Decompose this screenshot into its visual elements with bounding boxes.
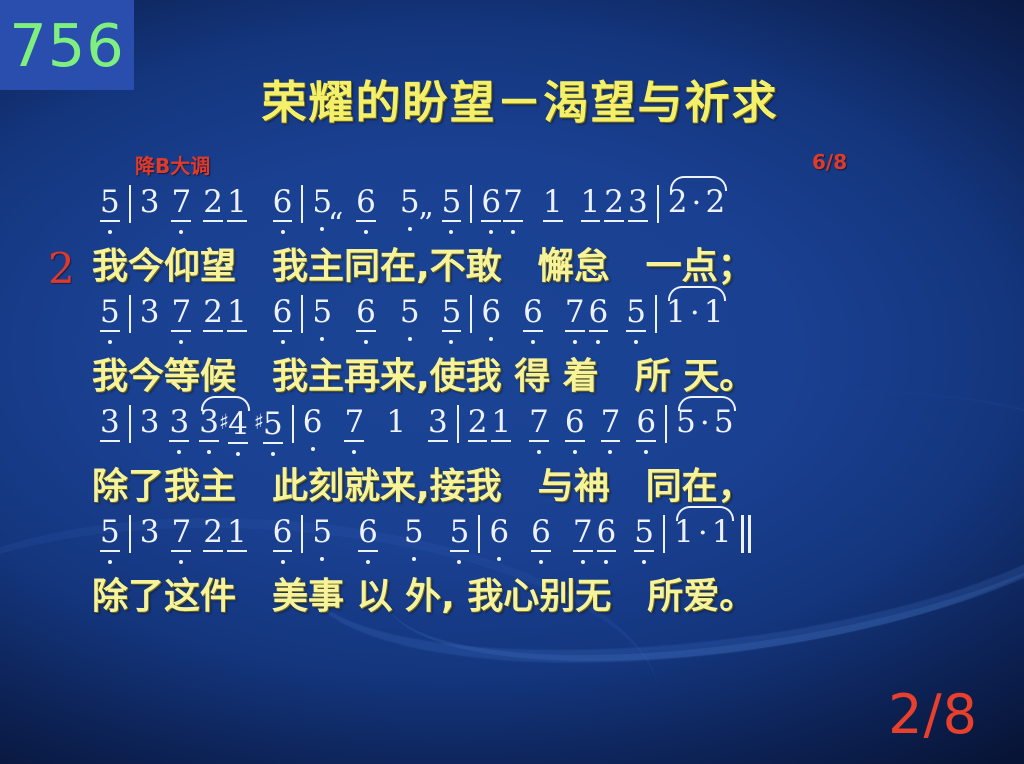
note-number: 1: [581, 185, 601, 222]
note-number: 5: [626, 295, 646, 332]
note-6: 6: [481, 185, 501, 222]
note-number: 1: [386, 405, 406, 439]
note-number: 1: [227, 295, 247, 332]
duration-dot: ·: [696, 405, 714, 441]
note-number: 5: [714, 405, 734, 439]
note-number: 2: [668, 185, 688, 219]
note-1: 1: [674, 515, 694, 549]
note-7: 7: [601, 405, 621, 442]
note-number: 5: [100, 295, 120, 332]
notation-row: 53721656556711232·2“”: [0, 185, 1024, 243]
notation-row: 5372165655667651·1: [0, 295, 1024, 353]
barline: [478, 515, 480, 553]
note-number: 1: [712, 515, 732, 549]
note-2: 2: [705, 185, 725, 219]
verse-number: 2: [48, 245, 75, 293]
lyric-row: 除了我主 此刻就来,接我 与袡 同在，: [0, 463, 1024, 515]
barline: [655, 295, 657, 333]
barline: [665, 405, 667, 443]
note-number: 6: [531, 515, 551, 552]
note-number: 6: [589, 295, 609, 332]
note-number: 3: [140, 185, 160, 219]
note-number: 5: [634, 515, 654, 552]
open-quote-mark: “: [328, 207, 343, 242]
note-number: 7: [344, 405, 364, 442]
note-6: 6: [565, 405, 585, 442]
note-2: 2: [203, 515, 223, 552]
note-number: 7: [171, 185, 191, 222]
note-number: 1: [704, 295, 724, 329]
note-number: 7: [171, 515, 191, 552]
note-number: 5: [100, 185, 120, 222]
note-7: 7: [344, 405, 364, 442]
note-number: 7: [565, 295, 585, 332]
note-number: 3: [199, 405, 219, 442]
note-3: 3: [169, 405, 189, 442]
note-number: 6: [489, 515, 509, 549]
lyric-row: 除了这件 美事 以 外, 我心别无 所爱。: [0, 573, 1024, 625]
duration-dot: ·: [687, 185, 705, 221]
note-2: 2: [668, 185, 688, 219]
music-system: 53721656556711232·2“”2我今仰望 我主同在,不敢 懈怠 一点…: [0, 185, 1024, 295]
note-number: 6: [481, 295, 501, 329]
barline: [129, 185, 131, 223]
note-number: 5: [100, 515, 120, 552]
lyric-text: 我今等候 我主再来,使我 得 着 所 天。: [92, 356, 755, 397]
note-number: 5: [404, 515, 424, 549]
note-1: 1: [543, 185, 563, 222]
lyric-text: 除了这件 美事 以 外, 我心别无 所爱。: [92, 576, 755, 617]
lyric-text: 除了我主 此刻就来,接我 与袡 同在，: [92, 466, 754, 507]
note-number: 3: [100, 405, 120, 442]
note-number: 5: [676, 405, 696, 439]
note-number: 7: [529, 405, 549, 442]
note-6: 6: [597, 515, 617, 552]
note-number: 3: [140, 295, 160, 329]
note-5: 5: [626, 295, 646, 332]
note-number: 5: [442, 185, 462, 222]
note-5: 5: [100, 295, 120, 332]
note-5: 5: [676, 405, 696, 439]
note-number: 5: [400, 185, 420, 219]
note-number: 5: [400, 295, 420, 329]
note-number: 6: [565, 405, 585, 442]
note-number: 1: [674, 515, 694, 549]
notation-row: 3333♯4♯567132176765·5: [0, 405, 1024, 463]
note-3: 3: [628, 185, 648, 222]
note-number: 2: [203, 295, 223, 332]
note-number: 6: [303, 405, 323, 439]
note-number: 7: [573, 515, 593, 552]
slide-canvas: 756 荣耀的盼望－渴望与祈求 降B大调 6/8 537216565567112…: [0, 0, 1024, 764]
note-5: 5: [312, 515, 332, 549]
note-3: 3: [140, 515, 160, 549]
note-number: 3: [140, 405, 160, 439]
note-6: 6: [358, 515, 378, 552]
note-number: 1: [491, 405, 511, 442]
note-6: 6: [356, 185, 376, 222]
song-number-badge: 756: [0, 0, 134, 90]
note-number: 7: [601, 405, 621, 442]
note-number: 3: [628, 185, 648, 222]
note-3: 3: [140, 405, 160, 439]
note-number: 3: [140, 515, 160, 549]
note-number: 6: [273, 295, 293, 332]
barline: [292, 405, 294, 443]
note-number: 6: [356, 295, 376, 332]
note-number: 7: [171, 295, 191, 332]
note-number: 3: [169, 405, 189, 442]
note-number: 5: [442, 295, 462, 332]
note-1: 1: [704, 295, 724, 329]
note-6: 6: [489, 515, 509, 549]
note-1: 1: [386, 405, 406, 439]
duration-dot: ·: [686, 295, 704, 331]
note-6: 6: [303, 405, 323, 439]
note-1: 1: [666, 295, 686, 329]
note-number: 6: [523, 295, 543, 332]
note-number: 5: [312, 515, 332, 549]
barline: [470, 185, 472, 223]
note-number: 5: [263, 407, 283, 444]
note-number: 2: [203, 185, 223, 222]
note-2: 2: [468, 405, 488, 442]
note-3: 3: [428, 405, 448, 442]
note-6: 6: [523, 295, 543, 332]
note-number: 2: [203, 515, 223, 552]
note-7: 7: [529, 405, 549, 442]
note-number: 6: [481, 185, 501, 222]
barline: [301, 515, 303, 553]
note-5: 5: [442, 295, 462, 332]
note-1: 1: [227, 295, 247, 332]
note-5: 5: [442, 185, 462, 222]
close-quote-mark: ”: [418, 207, 433, 242]
barline: [129, 405, 131, 443]
note-number: 6: [636, 405, 656, 442]
music-system: 5372165655667651·1除了这件 美事 以 外, 我心别无 所爱。: [0, 515, 1024, 625]
note-2: 2: [203, 185, 223, 222]
note-number: 5: [450, 515, 470, 552]
note-7: 7: [573, 515, 593, 552]
note-2: 2: [203, 295, 223, 332]
song-number: 756: [9, 16, 125, 75]
note-number: 1: [227, 515, 247, 552]
note-6: 6: [636, 405, 656, 442]
note-5: 5: [100, 185, 120, 222]
lyric-row: 我今等候 我主再来,使我 得 着 所 天。: [0, 353, 1024, 405]
note-6: 6: [356, 295, 376, 332]
note-number: 2: [468, 405, 488, 442]
note-number: 6: [356, 185, 376, 222]
notation-row: 5372165655667651·1: [0, 515, 1024, 573]
note-number: 6: [273, 185, 293, 222]
note-number: 5: [312, 295, 332, 329]
barline: [657, 185, 659, 223]
note-5: 5: [312, 295, 332, 329]
note-6: 6: [273, 515, 293, 552]
barline: [301, 185, 303, 223]
barline: [129, 515, 131, 553]
note-5: 5: [100, 515, 120, 552]
music-systems: 53721656556711232·2“”2我今仰望 我主同在,不敢 懈怠 一点…: [0, 185, 1024, 625]
note-number: 1: [666, 295, 686, 329]
final-barline: [741, 515, 755, 561]
music-system: 5372165655667651·1我今等候 我主再来,使我 得 着 所 天。: [0, 295, 1024, 405]
time-signature-label: 6/8: [812, 150, 847, 174]
duration-dot: ·: [694, 515, 712, 551]
note-2: 2: [604, 185, 624, 222]
page-title: 荣耀的盼望－渴望与祈求: [150, 66, 890, 131]
note-6: 6: [273, 295, 293, 332]
barline: [301, 295, 303, 333]
note-number: 6: [358, 515, 378, 552]
note-5: ♯5: [254, 405, 283, 444]
note-5: 5: [404, 515, 424, 549]
barline: [663, 515, 665, 553]
note-number: 2: [604, 185, 624, 222]
barline: [457, 405, 459, 443]
note-number: 1: [543, 185, 563, 222]
note-1: 1: [712, 515, 732, 549]
note-number: 6: [597, 515, 617, 552]
note-3: 3: [140, 295, 160, 329]
note-number: 1: [227, 185, 247, 222]
note-number: 4: [228, 407, 248, 444]
note-number: 2: [705, 185, 725, 219]
barline: [129, 295, 131, 333]
note-7: 7: [171, 295, 191, 332]
note-1: 1: [491, 405, 511, 442]
note-5: 5: [714, 405, 734, 439]
lyric-text: 我今仰望 我主同在,不敢 懈怠 一点；: [92, 246, 754, 287]
note-5: 5: [400, 185, 420, 219]
note-7: 7: [565, 295, 585, 332]
lyric-row: 2我今仰望 我主同在,不敢 懈怠 一点；: [0, 243, 1024, 295]
music-system: 3333♯4♯567132176765·5除了我主 此刻就来,接我 与袡 同在，: [0, 405, 1024, 515]
note-1: 1: [227, 185, 247, 222]
note-6: 6: [273, 185, 293, 222]
note-number: 3: [428, 405, 448, 442]
note-number: 6: [273, 515, 293, 552]
note-6: 6: [589, 295, 609, 332]
note-7: 7: [171, 515, 191, 552]
key-signature-label: 降B大调: [135, 150, 210, 179]
note-1: 1: [227, 515, 247, 552]
note-6: 6: [531, 515, 551, 552]
note-3: 3: [199, 405, 219, 442]
note-7: 7: [503, 185, 523, 222]
note-6: 6: [481, 295, 501, 329]
note-4: ♯4: [219, 405, 248, 444]
note-7: 7: [171, 185, 191, 222]
note-5: 5: [450, 515, 470, 552]
page-indicator: 2/8: [888, 688, 978, 742]
note-number: 7: [503, 185, 523, 222]
barline: [470, 295, 472, 333]
note-3: 3: [140, 185, 160, 219]
note-3: 3: [100, 405, 120, 442]
note-1: 1: [581, 185, 601, 222]
note-5: 5: [634, 515, 654, 552]
note-5: 5: [400, 295, 420, 329]
